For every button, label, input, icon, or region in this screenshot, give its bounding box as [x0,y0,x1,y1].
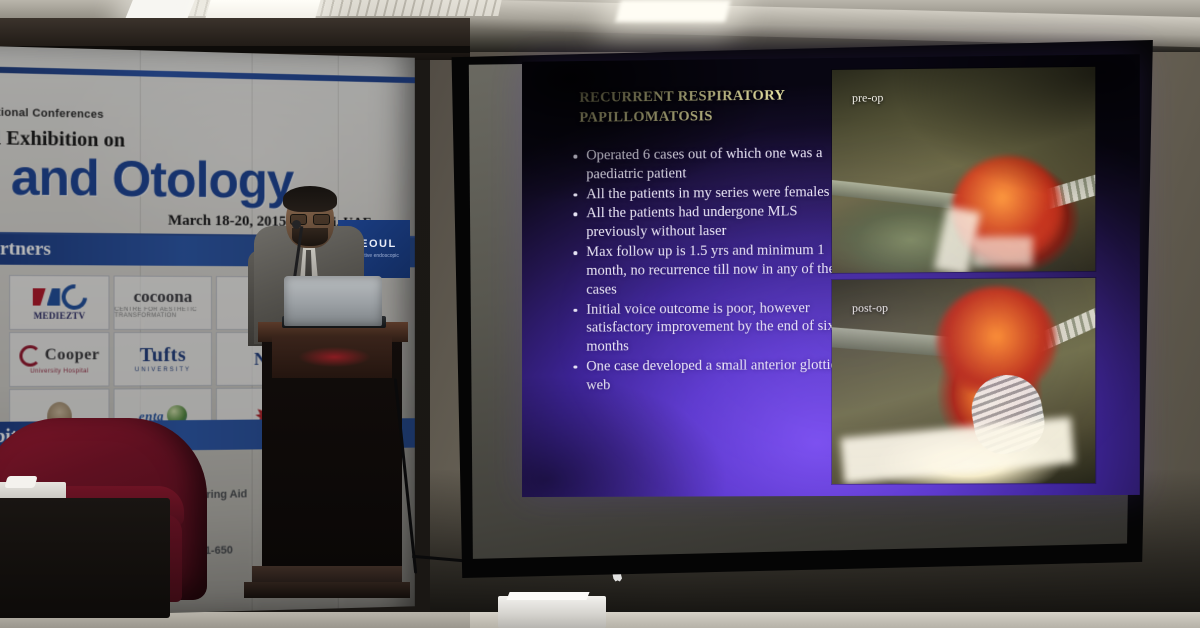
pre-op-endoscopic-photo: pre-op [832,67,1095,273]
slide-bullet-item: One case developed a small anterior glot… [571,356,840,395]
screenshot-root: rnational Conferences nd Exhibition on y… [0,0,1200,628]
cooper-mark-icon [19,345,41,366]
white-equipment-box-top [506,592,589,600]
banner-top-bar [0,66,415,83]
tissue-sheet [4,476,37,488]
post-op-endoscopic-photo: post-op [832,278,1095,484]
banner-partners-label: Partners [0,239,51,259]
logo-cocoona-label: cocoona [133,287,192,304]
post-op-label: post-op [852,302,888,314]
logo-cooper-university-hospital: Cooper University Hospital [9,332,109,387]
banner-main-title: y and Otology [0,151,293,206]
slide-title: RECURRENT RESPIRATORY PAPILLOMATOSIS [579,86,828,128]
slide-bullet-list: Operated 6 cases out of which one was a … [571,144,840,396]
slide-bullet-item: All the patients in my series were femal… [571,183,840,204]
logo-cooper-label: Cooper [45,347,100,363]
logo-mediez-tv: MEDIEZTV [9,275,109,330]
banner-exhibition-line: nd Exhibition on [0,128,125,151]
mic-icon [292,220,301,229]
specular-highlight [840,417,1074,484]
presentation-slide: RECURRENT RESPIRATORY PAPILLOMATOSIS Ope… [522,54,1140,497]
specular-highlight [972,236,1032,267]
logo-cooper-sub: University Hospital [30,368,89,374]
pre-op-label: pre-op [852,91,883,103]
speaker-hair [283,186,337,212]
slide-bullet-item: Max follow up is 1.5 yrs and minimum 1 m… [571,241,840,299]
logo-tufts-university: Tufts UNIVERSITY [114,332,212,386]
logo-tufts-label: Tufts [140,345,186,365]
slide-bullet-item: All the patients had undergone MLS previ… [571,202,840,242]
laptop[interactable] [284,276,382,326]
side-table [0,498,170,618]
white-equipment-box [498,596,606,628]
logo-cocoona: cocoona CENTRE FOR AESTHETIC TRANSFORMAT… [114,276,212,330]
podium-front-panel [272,336,392,378]
slide-title-line-2: PAPILLOMATOSIS [579,106,828,128]
podium-plinth [244,582,410,598]
logo-mediez-label: MEDIEZTV [34,312,86,321]
slide-bullet-item: Initial voice outcome is poor, however s… [571,298,840,356]
logo-tufts-sub: UNIVERSITY [135,367,191,373]
slide-bullet-item: Operated 6 cases out of which one was a … [571,144,840,184]
ceiling-light-glow [615,0,730,22]
logo-cocoona-sub: CENTRE FOR AESTHETIC TRANSFORMATION [115,306,211,318]
banner-conferences-line: rnational Conferences [0,107,104,121]
